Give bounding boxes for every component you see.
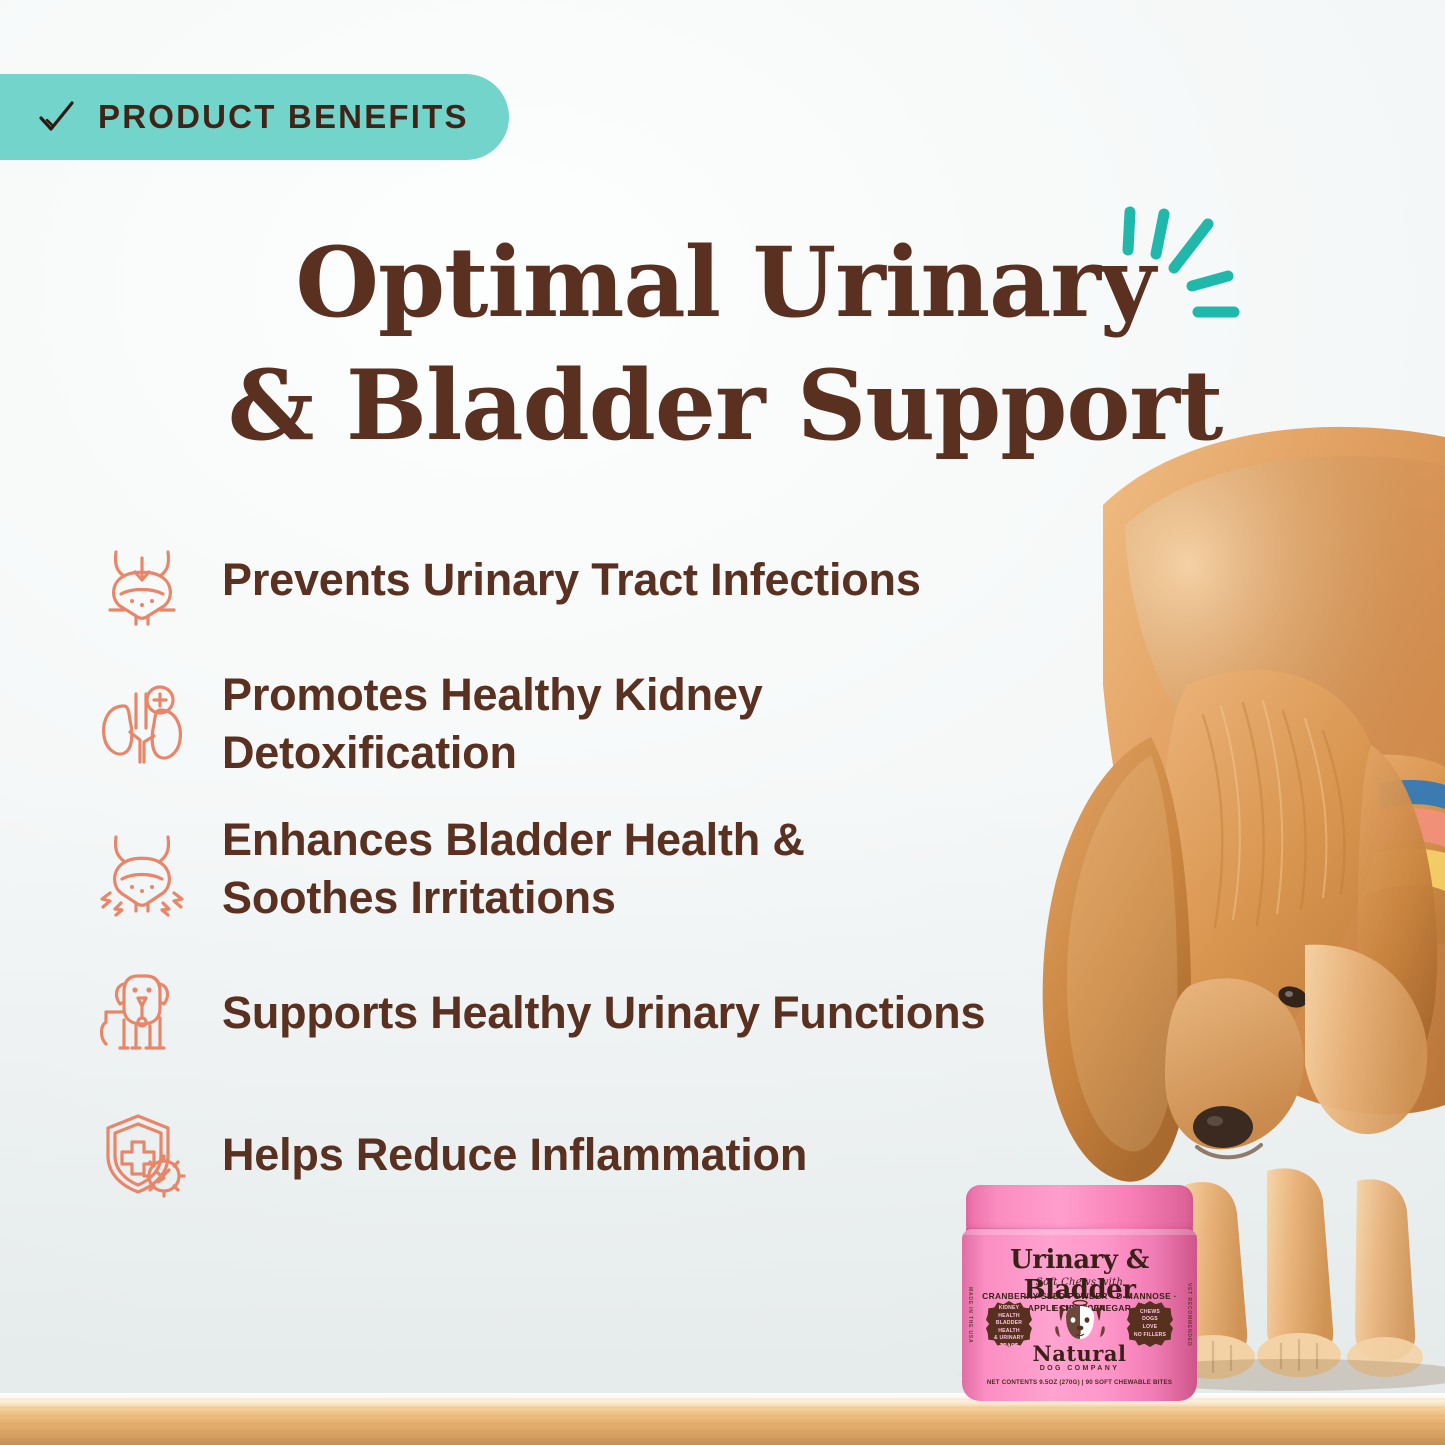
sparkle-icon <box>1112 196 1262 326</box>
benefit-item-5: Helps Reduce Inflammation <box>86 1098 1096 1210</box>
benefits-list: Prevents Urinary Tract Infections Promot… <box>86 524 1096 1240</box>
page-title: Optimal Urinary & Bladder Support <box>190 222 1260 468</box>
benefit-item-3: Enhances Bladder Health & Soothes Irrita… <box>86 811 1096 926</box>
french-bulldog-logo-icon <box>1052 1297 1108 1347</box>
check-icon <box>36 97 76 137</box>
benefit-item-1: Prevents Urinary Tract Infections <box>86 524 1096 636</box>
headline-line-2: & Bladder Support <box>190 345 1260 468</box>
bladder-arrow-icon <box>86 524 198 636</box>
dog-standing-icon <box>86 956 198 1068</box>
badge-label: PRODUCT BENEFITS <box>98 98 469 136</box>
jar-side-text-right: VET RECOMMENDED <box>1186 1283 1192 1346</box>
wood-floor <box>0 1393 1445 1445</box>
product-jar[interactable]: Urinary & Bladder Soft Chews with CRANBE… <box>962 1185 1197 1407</box>
jar-side-text-left: MADE IN THE USA <box>967 1287 973 1343</box>
jar-brand-sub: DOG COMPANY <box>962 1365 1197 1372</box>
kidneys-plus-icon <box>86 668 198 780</box>
benefit-item-2: Promotes Healthy Kidney Detoxification <box>86 666 1096 781</box>
benefit-label-2: Promotes Healthy Kidney Detoxification <box>222 666 763 781</box>
bladder-irritation-icon <box>86 813 198 925</box>
jar-brand: Natural <box>962 1341 1197 1366</box>
product-benefits-infographic: PRODUCT BENEFITS Optimal Urinary & Bladd… <box>0 0 1445 1445</box>
benefit-label-4: Supports Healthy Urinary Functions <box>222 984 985 1042</box>
jar-lid <box>966 1185 1193 1233</box>
shield-germ-icon <box>86 1098 198 1210</box>
benefit-label-5: Helps Reduce Inflammation <box>222 1126 807 1184</box>
jar-net-contents: NET CONTENTS 9.5OZ (270G) | 90 SOFT CHEW… <box>962 1379 1197 1386</box>
headline-line-1: Optimal Urinary <box>295 226 1154 339</box>
jar-subtitle: Soft Chews with <box>962 1277 1197 1288</box>
benefit-label-3: Enhances Bladder Health & Soothes Irrita… <box>222 811 805 926</box>
benefit-item-4: Supports Healthy Urinary Functions <box>86 956 1096 1068</box>
product-benefits-badge: PRODUCT BENEFITS <box>0 74 509 160</box>
benefit-label-1: Prevents Urinary Tract Infections <box>222 551 921 609</box>
jar-label: Urinary & Bladder Soft Chews with CRANBE… <box>962 1229 1197 1401</box>
